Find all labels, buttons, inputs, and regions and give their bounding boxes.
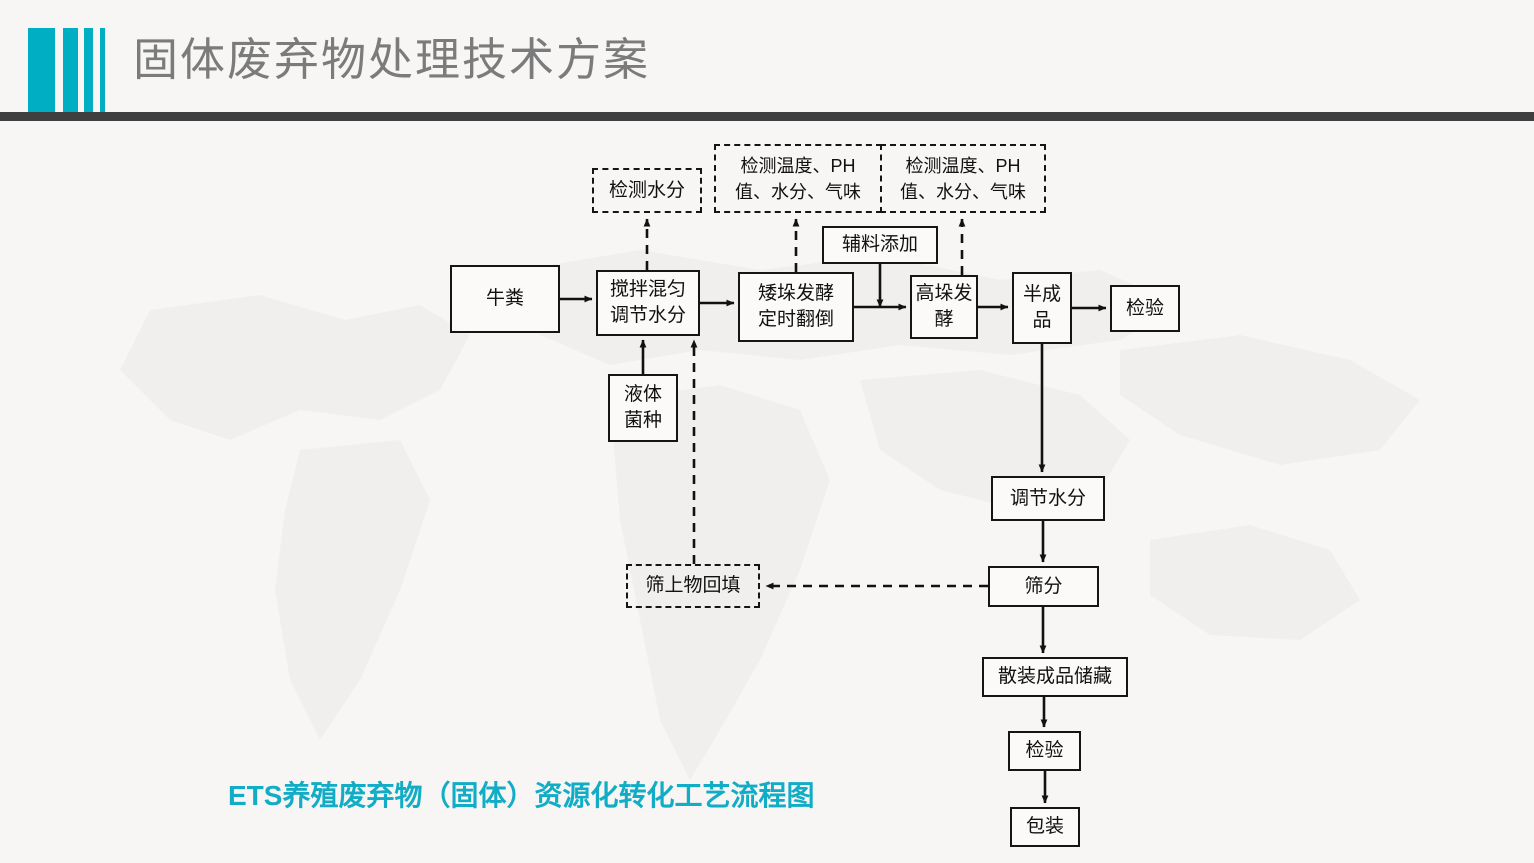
node-check-temp-ph-1[interactable]: 检测温度、PH 值、水分、气味 xyxy=(714,144,882,213)
node-liquid-strain[interactable]: 液体 菌种 xyxy=(608,374,678,442)
diagram-caption: ETS养殖废弃物（固体）资源化转化工艺流程图 xyxy=(228,774,814,814)
process-flowchart: 牛粪 搅拌混匀 调节水分 矮垛发酵 定时翻倒 高垛发酵 半成品 检验 液体 菌种… xyxy=(0,0,1534,863)
node-inspection-first[interactable]: 检验 xyxy=(1110,285,1180,332)
node-adjust-moisture[interactable]: 调节水分 xyxy=(991,476,1105,521)
node-bulk-storage[interactable]: 散装成品储藏 xyxy=(982,657,1128,697)
node-inspection-second[interactable]: 检验 xyxy=(1008,731,1081,771)
node-packaging[interactable]: 包装 xyxy=(1010,807,1080,847)
node-cow-dung[interactable]: 牛粪 xyxy=(450,265,560,333)
node-semi-finished-product[interactable]: 半成品 xyxy=(1012,272,1072,344)
node-screening[interactable]: 筛分 xyxy=(988,566,1099,607)
node-additive-addition[interactable]: 辅料添加 xyxy=(822,226,938,264)
node-low-pile-fermentation[interactable]: 矮垛发酵 定时翻倒 xyxy=(738,272,854,342)
node-high-pile-fermentation[interactable]: 高垛发酵 xyxy=(910,275,978,339)
node-check-moisture[interactable]: 检测水分 xyxy=(592,168,702,213)
node-mix-adjust[interactable]: 搅拌混匀 调节水分 xyxy=(596,270,700,336)
flow-edges xyxy=(0,0,1534,863)
node-oversize-refill[interactable]: 筛上物回填 xyxy=(626,564,760,608)
node-check-temp-ph-2[interactable]: 检测温度、PH 值、水分、气味 xyxy=(880,144,1046,213)
